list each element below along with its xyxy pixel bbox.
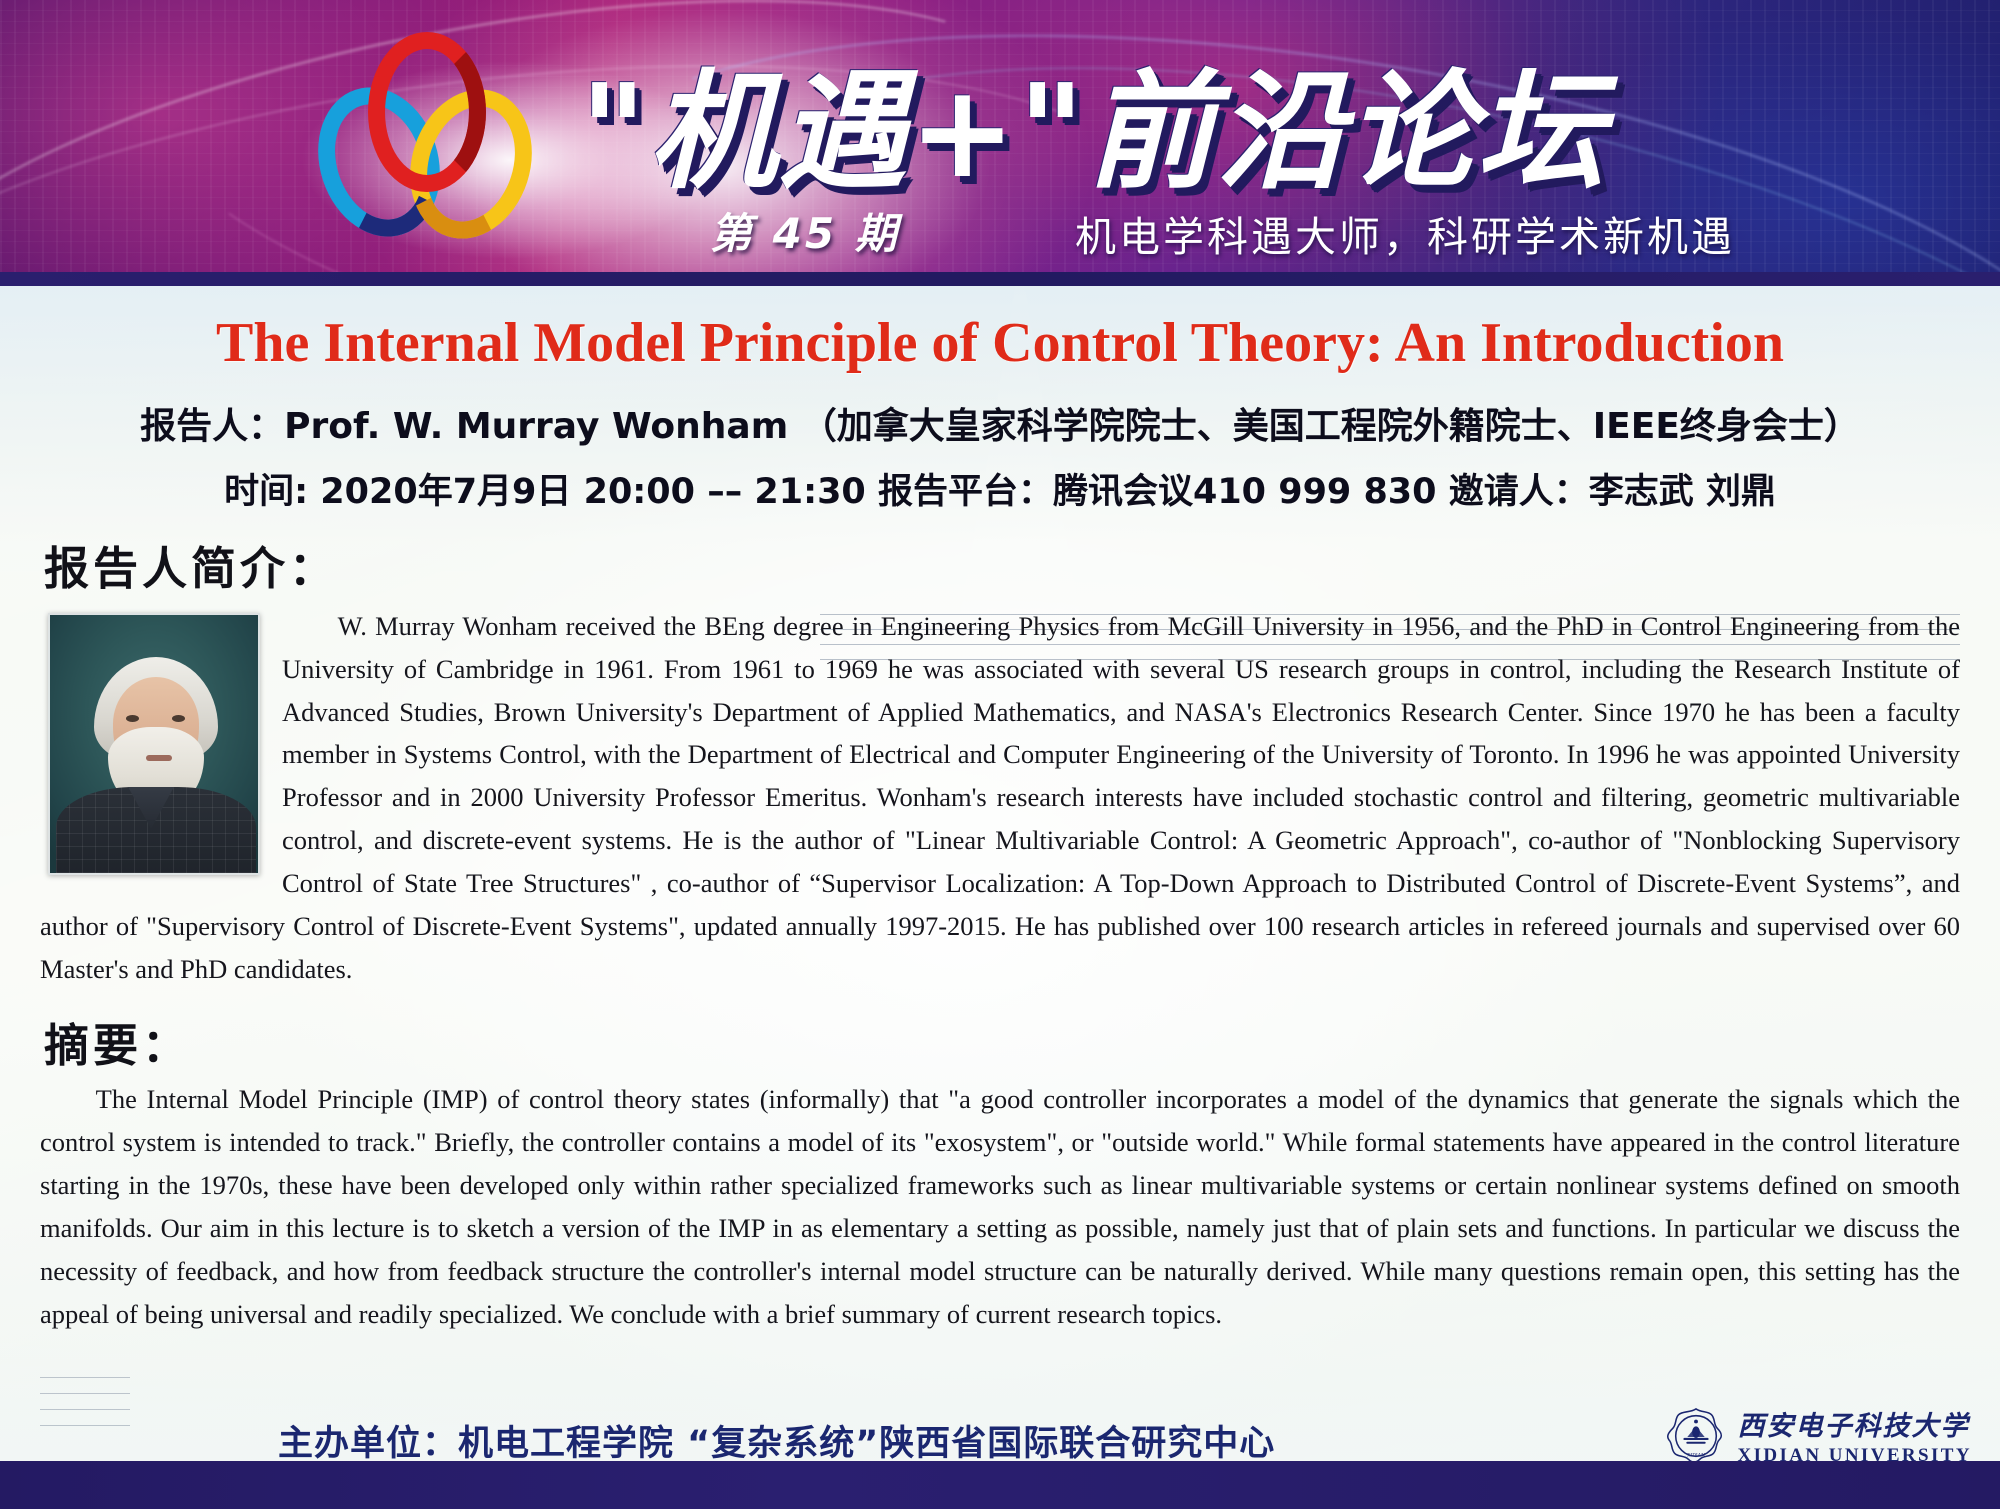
ring-red-shadow-icon [368, 32, 486, 192]
forum-title: "机遇+"前沿论坛 [580, 28, 1607, 213]
poster-root: "机遇+"前沿论坛 第 45 期 机电学科遇大师，科研学术新机遇 The Int… [0, 0, 2000, 1509]
header-banner: "机遇+"前沿论坛 第 45 期 机电学科遇大师，科研学术新机遇 [0, 0, 2000, 286]
bottom-bar [0, 1461, 2000, 1509]
bio-paragraph: W. Murray Wonham received the BEng degre… [40, 605, 1960, 991]
content-column: The Internal Model Principle of Control … [0, 312, 2000, 1336]
portrait-mouth [146, 755, 172, 761]
speaker-portrait-photo [48, 613, 260, 875]
portrait-eye [126, 715, 139, 722]
university-name-block: 西安电子科技大学 XIDIAN UNIVERSITY [1737, 1404, 1972, 1467]
university-logo: XIDIAN 西安电子科技大学 XIDIAN UNIVERSITY [1667, 1404, 1972, 1467]
bio-block: W. Murray Wonham received the BEng degre… [40, 605, 1960, 991]
banner-bottom-edge [0, 272, 2000, 286]
forum-rings-logo-icon [312, 32, 542, 232]
poster-body: The Internal Model Principle of Control … [0, 286, 2000, 1461]
speaker-line: 报告人：Prof. W. Murray Wonham （加拿大皇家科学院院士、美… [40, 397, 1960, 449]
xidian-seal-icon: XIDIAN [1667, 1407, 1725, 1465]
abstract-paragraph: The Internal Model Principle (IMP) of co… [40, 1078, 1960, 1336]
forum-subtitle: 机电学科遇大师，科研学术新机遇 [1075, 203, 1735, 263]
portrait-eye [172, 715, 185, 722]
university-name-cn: 西安电子科技大学 [1737, 1404, 1972, 1443]
abstract-block: The Internal Model Principle (IMP) of co… [40, 1078, 1960, 1336]
talk-title: The Internal Model Principle of Control … [40, 312, 1960, 375]
organizer-line: 主办单位：机电工程学院 “复杂系统”陕西省国际联合研究中心 [278, 1415, 1275, 1466]
abstract-section-heading: 摘要： [44, 1009, 1960, 1074]
svg-text:XIDIAN: XIDIAN [1688, 1453, 1706, 1458]
forum-issue-number: 第 45 期 [710, 200, 900, 261]
time-and-platform-line: 时间: 2020年7月9日 20:00 –– 21:30 报告平台：腾讯会议41… [40, 463, 1960, 514]
bio-section-heading: 报告人简介： [44, 532, 1960, 597]
